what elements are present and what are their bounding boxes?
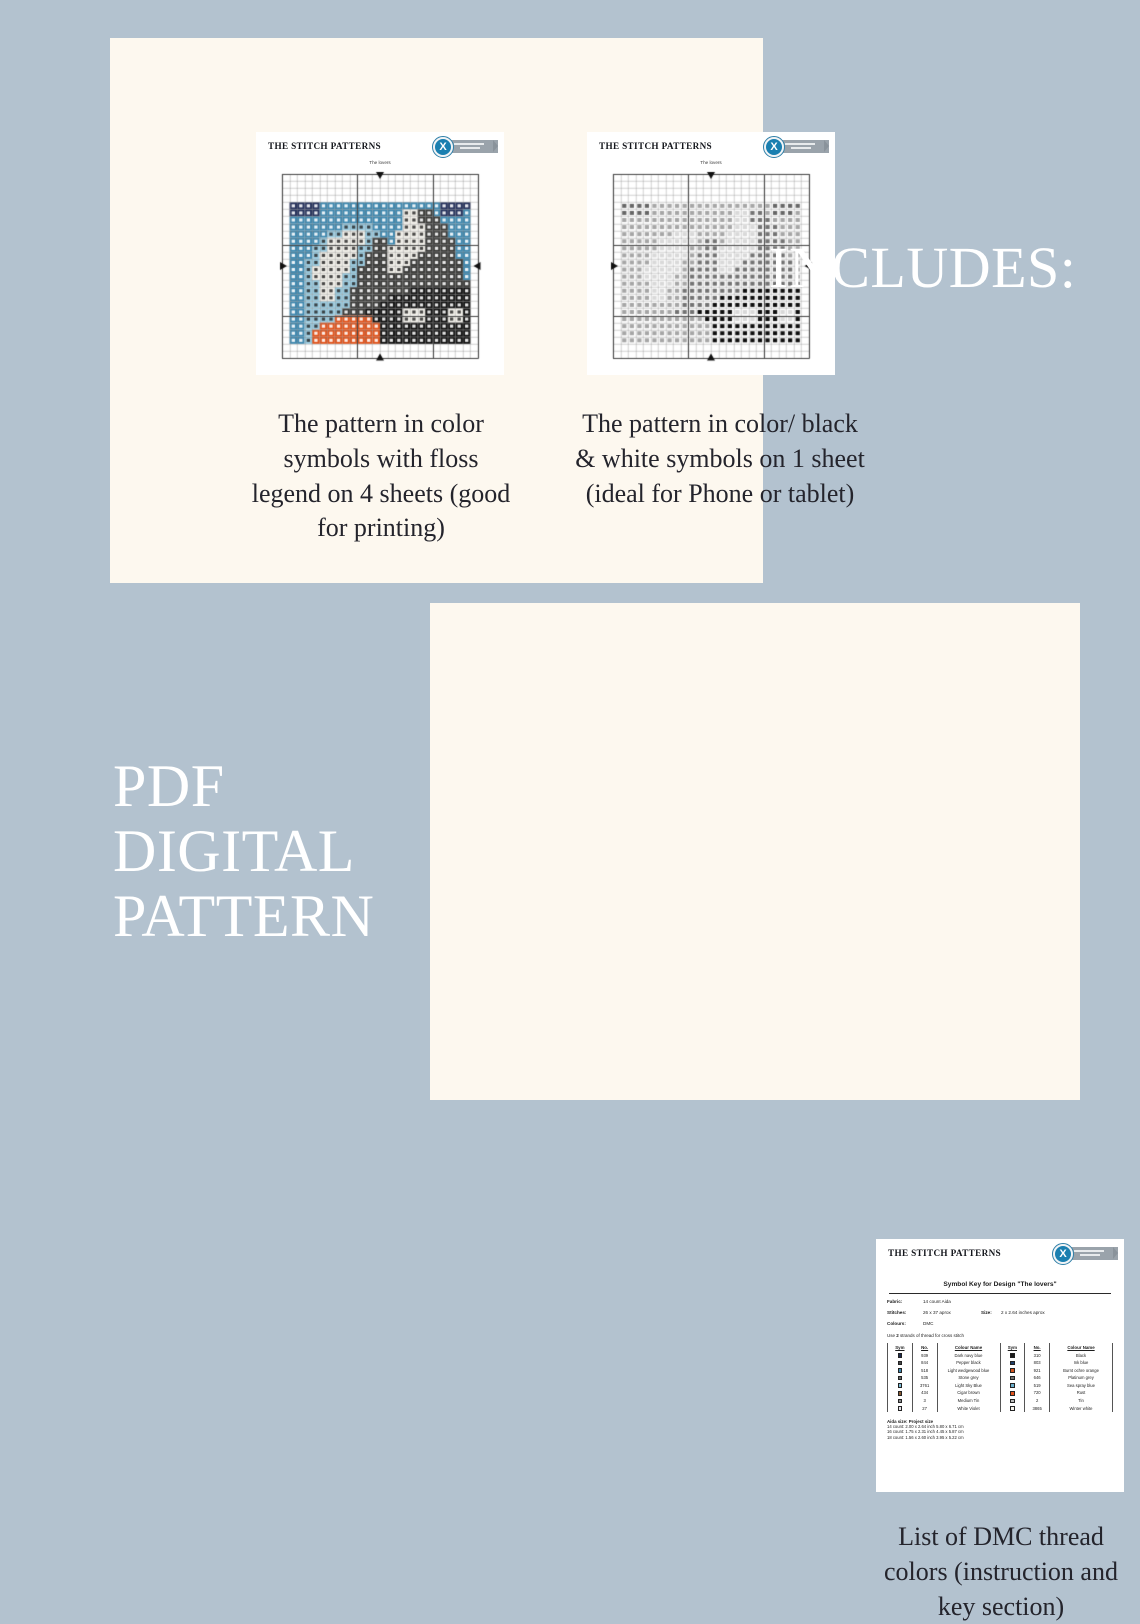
floss-symbol-swatch: [1000, 1389, 1025, 1397]
ribbon-text-line1: [454, 143, 484, 145]
symbol-key-heading: Symbol Key for Design "The lovers": [887, 1281, 1113, 1288]
divider: [889, 1293, 1111, 1294]
floss-symbol-swatch: [888, 1367, 913, 1375]
column-header: No.: [1025, 1343, 1050, 1351]
dmc-key-body: Symbol Key for Design "The lovers" Fabri…: [876, 1281, 1124, 1440]
floss-cell: Black: [1050, 1351, 1113, 1359]
column-header: Sym: [888, 1343, 913, 1351]
floss-cell: 519: [1025, 1382, 1050, 1390]
floss-cell: 310: [1025, 1351, 1050, 1359]
floss-cell: 939: [912, 1351, 937, 1359]
floss-cell: 535: [912, 1374, 937, 1382]
floss-symbol-swatch: [1000, 1404, 1025, 1412]
table-body: 939Dark navy blue310Black844Pepper black…: [888, 1351, 1113, 1412]
key-meta-value: 14 count Aida: [923, 1300, 981, 1305]
ribbon-text-line1: [1074, 1250, 1104, 1252]
aida-line: 18 count: 1.56 x 2.60 inch 3.95 x 5.22 c…: [887, 1435, 1113, 1440]
floss-cell: Burnt ochre orange: [1050, 1367, 1113, 1375]
pattern-keeper-tested-badge: X: [432, 136, 498, 158]
key-meta-label: Fabric:: [887, 1300, 923, 1305]
table-row: 535Stone grey646Platinum grey: [888, 1374, 1113, 1382]
floss-cell: 518: [912, 1367, 937, 1375]
ribbon-text-line2: [1080, 1254, 1100, 1256]
bottom-panel: THE STITCH PATTERNS X Symbol Key for Des…: [430, 603, 1080, 1100]
table-row: 434Cigar brown720Rust: [888, 1389, 1113, 1397]
floss-cell: 434: [912, 1389, 937, 1397]
ribbon-text-line1: [785, 143, 815, 145]
table-row: 518Light wedgewood blue921Burnt ochre or…: [888, 1367, 1113, 1375]
brand-title: THE STITCH PATTERNS: [268, 141, 381, 151]
key-meta-list: Fabric:14 count AidaStitches:26 x 37 apr…: [887, 1300, 1113, 1327]
floss-cell: Rust: [1050, 1389, 1113, 1397]
caption-dmc-list: List of DMC thread colors (instruction a…: [878, 1520, 1124, 1624]
table-header-row: SymNo.Colour NameSymNo.Colour Name: [888, 1343, 1113, 1351]
floss-cell: Cigar brown: [937, 1389, 1000, 1397]
column-header: Colour Name: [1050, 1343, 1113, 1351]
brand-title: THE STITCH PATTERNS: [599, 141, 712, 151]
sheet-header: THE STITCH PATTERNS X: [256, 132, 504, 162]
floss-cell: White Violet: [937, 1404, 1000, 1412]
pdf-digital-pattern-headline: PDF DIGITAL PATTERN: [113, 754, 374, 948]
top-panel: THE STITCH PATTERNS X The lovers THE STI…: [110, 38, 763, 583]
symbol-key-table: SymNo.Colour NameSymNo.Colour Name 939Da…: [887, 1343, 1113, 1412]
strands-note: Use 2 strands of thread for cross stitch: [887, 1333, 1113, 1338]
floss-cell: Light wedgewood blue: [937, 1367, 1000, 1375]
key-meta-value2: [1001, 1322, 1059, 1327]
floss-cell: Winter white: [1050, 1404, 1113, 1412]
table-row: 3761Light Sky Blue519Sea spray blue: [888, 1382, 1113, 1390]
floss-symbol-swatch: [1000, 1397, 1025, 1405]
floss-symbol-swatch: [888, 1374, 913, 1382]
floss-cell: Medium Tin: [937, 1397, 1000, 1405]
floss-cell: Sea spray blue: [1050, 1382, 1113, 1390]
table-row: 844Pepper black803Ink blue: [888, 1359, 1113, 1367]
floss-cell: 803: [1025, 1359, 1050, 1367]
floss-cell: Tin: [1050, 1397, 1113, 1405]
color-chart-wrap: The lovers: [278, 170, 482, 362]
floss-symbol-swatch: [888, 1397, 913, 1405]
key-meta-label2: [981, 1300, 1001, 1305]
caption-bw-pattern: The pattern in color/ black & white symb…: [575, 407, 865, 511]
aida-size-block: Aida size: Project size 14 count: 2.00 x…: [887, 1419, 1113, 1440]
pdf-line-1: PDF: [113, 754, 374, 819]
sheet-header: THE STITCH PATTERNS X: [876, 1239, 1124, 1269]
caption-color-pattern: The pattern in color symbols with floss …: [250, 407, 512, 546]
aida-title: Aida size: Project size: [887, 1419, 933, 1424]
floss-cell: 3761: [912, 1382, 937, 1390]
sheet-dmc-key[interactable]: THE STITCH PATTERNS X Symbol Key for Des…: [876, 1239, 1124, 1492]
column-header: No.: [912, 1343, 937, 1351]
key-meta-value: DMC: [923, 1322, 981, 1327]
table-row: 3Medium Tin2Tin: [888, 1397, 1113, 1405]
key-meta-row: Colours:DMC: [887, 1322, 1113, 1327]
floss-cell: Platinum grey: [1050, 1374, 1113, 1382]
key-meta-label: Colours:: [887, 1322, 923, 1327]
ribbon-text-line2: [460, 147, 480, 149]
chart-title-bw: The lovers: [609, 160, 813, 165]
floss-cell: Pepper black: [937, 1359, 1000, 1367]
note-pre: Use: [887, 1333, 896, 1338]
poster-canvas: THE STITCH PATTERNS X The lovers THE STI…: [0, 0, 1140, 1158]
floss-symbol-swatch: [1000, 1382, 1025, 1390]
sheet-header: THE STITCH PATTERNS X: [587, 132, 835, 162]
x-stitch-icon: X: [766, 139, 782, 155]
column-header: Sym: [1000, 1343, 1025, 1351]
key-meta-label: Stitches:: [887, 1311, 923, 1316]
floss-symbol-swatch: [1000, 1374, 1025, 1382]
column-header: Colour Name: [937, 1343, 1000, 1351]
floss-cell: 3865: [1025, 1404, 1050, 1412]
includes-headline: INCLUDES:: [769, 239, 1076, 297]
ribbon-text-line2: [791, 147, 811, 149]
floss-cell: Dark navy blue: [937, 1351, 1000, 1359]
key-meta-row: Fabric:14 count Aida: [887, 1300, 1113, 1305]
pdf-line-2: DIGITAL: [113, 819, 374, 884]
x-stitch-icon: X: [1055, 1246, 1071, 1262]
pdf-line-3: PATTERN: [113, 884, 374, 949]
aida-lines: 14 count: 2.00 x 2.64 inch 5.80 x 6.71 c…: [887, 1424, 1113, 1439]
key-meta-label2: [981, 1322, 1001, 1327]
table-row: 27White Violet3865Winter white: [888, 1404, 1113, 1412]
floss-cell: 921: [1025, 1367, 1050, 1375]
pattern-keeper-tested-badge: X: [763, 136, 829, 158]
key-meta-label2: Size:: [981, 1311, 1001, 1316]
floss-symbol-swatch: [888, 1404, 913, 1412]
pattern-keeper-tested-badge: X: [1052, 1243, 1118, 1265]
floss-cell: 720: [1025, 1389, 1050, 1397]
key-meta-row: Stitches:26 x 37 aproxSize:2 x 2.64 inch…: [887, 1311, 1113, 1316]
floss-symbol-swatch: [1000, 1359, 1025, 1367]
brand-title: THE STITCH PATTERNS: [888, 1248, 1001, 1258]
floss-cell: 27: [912, 1404, 937, 1412]
floss-symbol-swatch: [888, 1351, 913, 1359]
floss-cell: Stone grey: [937, 1374, 1000, 1382]
floss-symbol-swatch: [888, 1382, 913, 1390]
floss-symbol-swatch: [888, 1389, 913, 1397]
floss-cell: 3: [912, 1397, 937, 1405]
note-post: strands of thread for cross stitch: [899, 1333, 964, 1338]
floss-cell: 844: [912, 1359, 937, 1367]
floss-symbol-swatch: [1000, 1351, 1025, 1359]
sheet-color-pattern[interactable]: THE STITCH PATTERNS X The lovers: [256, 132, 504, 375]
key-meta-value: 26 x 37 aprox: [923, 1311, 981, 1316]
color-symbol-chart: [278, 170, 482, 362]
x-stitch-icon: X: [435, 139, 451, 155]
chart-title-color: The lovers: [278, 160, 482, 165]
floss-symbol-swatch: [1000, 1367, 1025, 1375]
floss-cell: 2: [1025, 1397, 1050, 1405]
floss-cell: 646: [1025, 1374, 1050, 1382]
floss-symbol-swatch: [888, 1359, 913, 1367]
table-row: 939Dark navy blue310Black: [888, 1351, 1113, 1359]
key-meta-value2: 2 x 2.64 inches aprox: [1001, 1311, 1059, 1316]
key-meta-value2: [1001, 1300, 1059, 1305]
floss-cell: Light Sky Blue: [937, 1382, 1000, 1390]
floss-cell: Ink blue: [1050, 1359, 1113, 1367]
